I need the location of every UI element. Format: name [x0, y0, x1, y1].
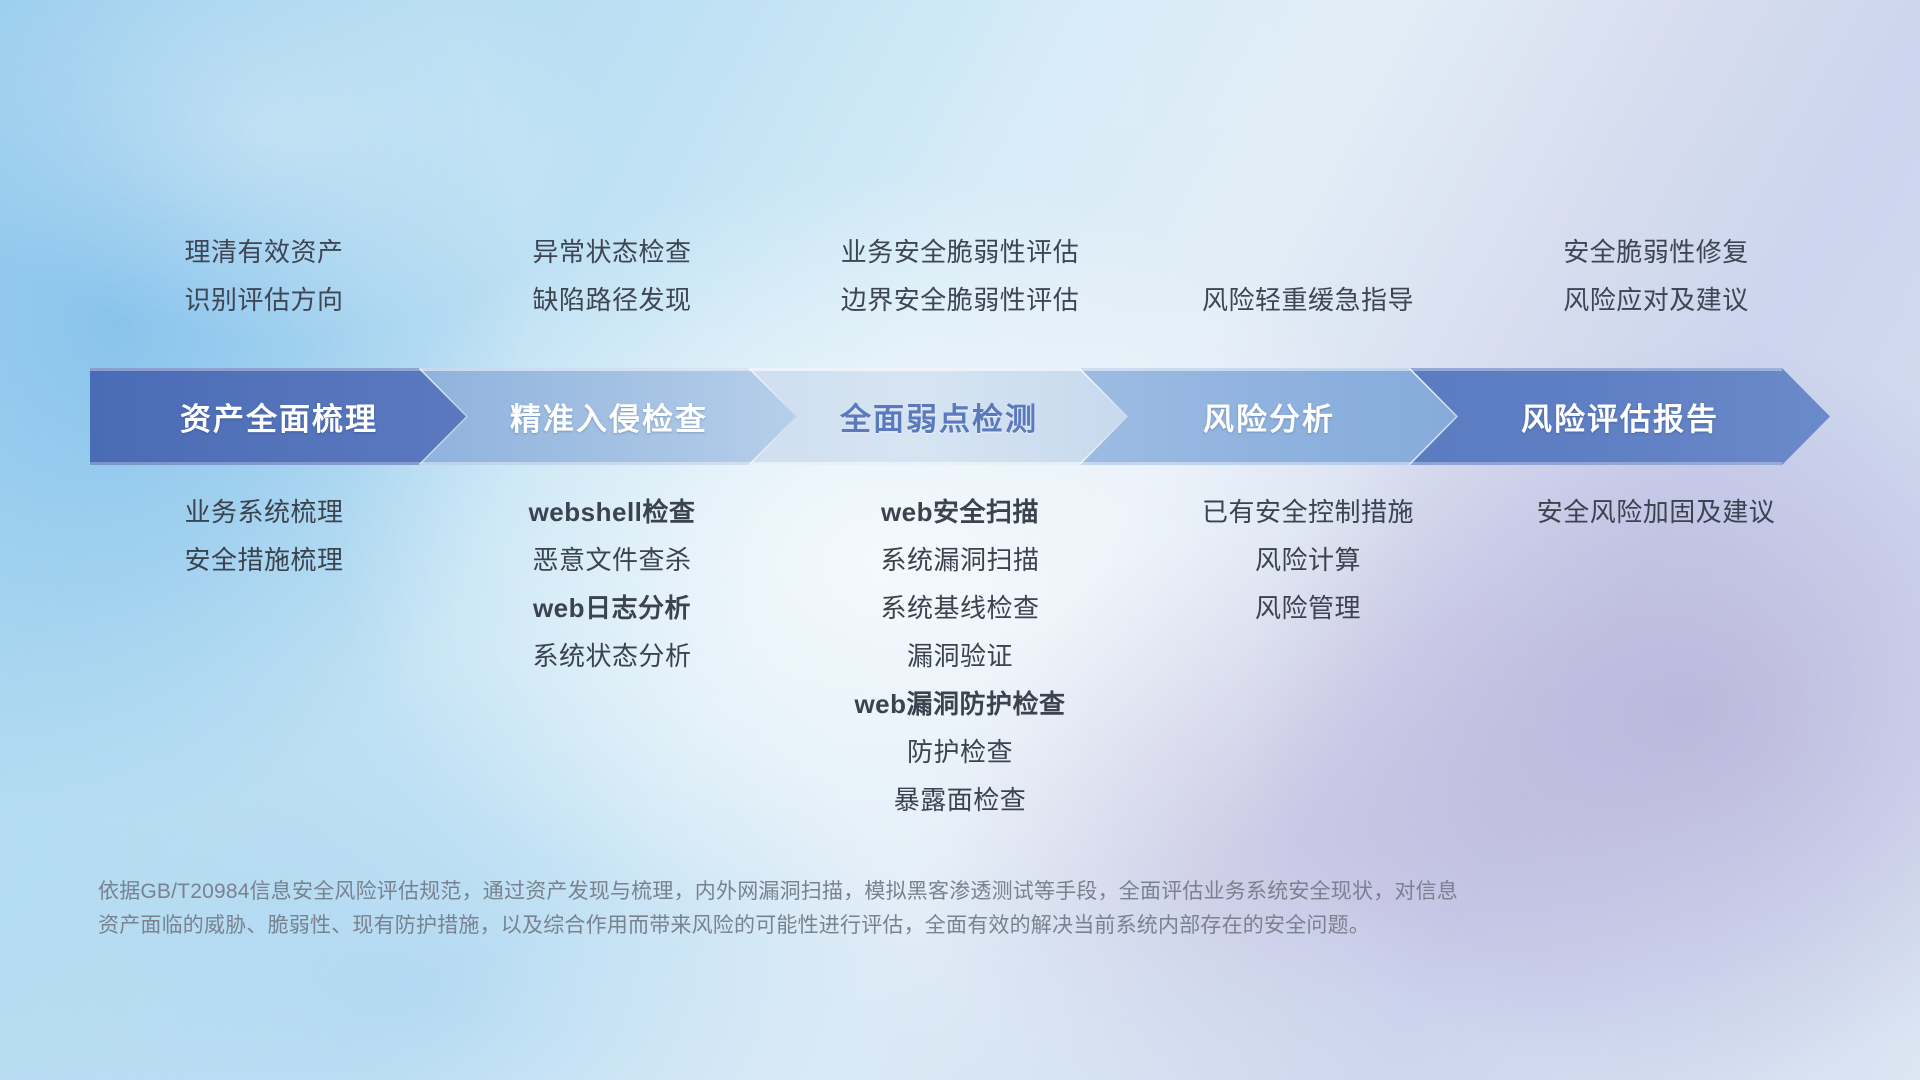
top-note: 风险轻重缓急指导 [1134, 276, 1482, 324]
bottom-item: 风险管理 [1134, 588, 1482, 628]
bottom-item: 防护检查 [786, 732, 1134, 772]
top-notes-intrusion-check: 异常状态检查 缺陷路径发现 [438, 228, 786, 324]
bottom-items-risk-analysis: 已有安全控制措施 风险计算 风险管理 [1134, 492, 1482, 636]
stage-label: 风险分析 [1203, 394, 1335, 439]
stage-label: 资产全面梳理 [180, 394, 378, 439]
stage-label: 风险评估报告 [1521, 394, 1719, 439]
bottom-items-weakness-detection: web安全扫描 系统漏洞扫描 系统基线检查 漏洞验证 web漏洞防护检查 防护检… [786, 492, 1134, 828]
bottom-items-intrusion-check: webshell检查 恶意文件查杀 web日志分析 系统状态分析 [438, 492, 786, 684]
top-note: 安全脆弱性修复 [1482, 228, 1830, 276]
top-note: 业务安全脆弱性评估 [786, 228, 1134, 276]
stage-arrow-risk-report[interactable]: 风险评估报告 [1410, 368, 1830, 465]
stage-arrow-intrusion-check[interactable]: 精准入侵检查 [420, 368, 798, 465]
bottom-item: 已有安全控制措施 [1134, 492, 1482, 532]
footer-line-1: 依据GB/T20984信息安全风险评估规范，通过资产发现与梳理，内外网漏洞扫描，… [98, 875, 1618, 909]
top-notes-risk-analysis: 风险轻重缓急指导 [1134, 228, 1482, 324]
stage-arrow-risk-analysis[interactable]: 风险分析 [1080, 368, 1458, 465]
stage-label: 全面弱点检测 [840, 394, 1038, 439]
footer-line-2: 资产面临的威胁、脆弱性、现有防护措施，以及综合作用而带来风险的可能性进行评估，全… [98, 909, 1618, 943]
top-note: 边界安全脆弱性评估 [786, 276, 1134, 324]
top-note: 异常状态检查 [438, 228, 786, 276]
top-notes-weakness-detection: 业务安全脆弱性评估 边界安全脆弱性评估 [786, 228, 1134, 324]
bottom-items-row: 业务系统梳理 安全措施梳理 webshell检查 恶意文件查杀 web日志分析 … [90, 492, 1830, 828]
top-note: 理清有效资产 [90, 228, 438, 276]
bottom-item: 系统漏洞扫描 [786, 540, 1134, 580]
bottom-items-asset-inventory: 业务系统梳理 安全措施梳理 [90, 492, 438, 588]
top-note: 缺陷路径发现 [438, 276, 786, 324]
bottom-items-risk-report: 安全风险加固及建议 [1482, 492, 1830, 540]
footer-description: 依据GB/T20984信息安全风险评估规范，通过资产发现与梳理，内外网漏洞扫描，… [98, 875, 1618, 943]
bottom-item: 暴露面检查 [786, 780, 1134, 820]
bottom-item: 风险计算 [1134, 540, 1482, 580]
top-notes-row: 理清有效资产 识别评估方向 异常状态检查 缺陷路径发现 业务安全脆弱性评估 边界… [90, 228, 1830, 324]
top-notes-risk-report: 安全脆弱性修复 风险应对及建议 [1482, 228, 1830, 324]
bottom-item: web日志分析 [438, 588, 786, 628]
bottom-item: webshell检查 [438, 492, 786, 532]
bottom-item: 安全措施梳理 [90, 540, 438, 580]
top-note: 风险应对及建议 [1482, 276, 1830, 324]
bottom-item: web安全扫描 [786, 492, 1134, 532]
bottom-item: 安全风险加固及建议 [1482, 492, 1830, 532]
bottom-item: 业务系统梳理 [90, 492, 438, 532]
bottom-item: 漏洞验证 [786, 636, 1134, 676]
process-diagram: 理清有效资产 识别评估方向 异常状态检查 缺陷路径发现 业务安全脆弱性评估 边界… [0, 0, 1920, 1080]
bottom-item: 系统状态分析 [438, 636, 786, 676]
stage-arrow-weakness-detection[interactable]: 全面弱点检测 [750, 368, 1128, 465]
top-note: 识别评估方向 [90, 276, 438, 324]
top-notes-asset-inventory: 理清有效资产 识别评估方向 [90, 228, 438, 324]
stage-arrow-asset-inventory[interactable]: 资产全面梳理 [90, 368, 468, 465]
bottom-item: 系统基线检查 [786, 588, 1134, 628]
bottom-item: web漏洞防护检查 [786, 684, 1134, 724]
stage-arrow-band: 资产全面梳理 [90, 368, 1830, 465]
bottom-item: 恶意文件查杀 [438, 540, 786, 580]
stage-label: 精准入侵检查 [510, 394, 708, 439]
